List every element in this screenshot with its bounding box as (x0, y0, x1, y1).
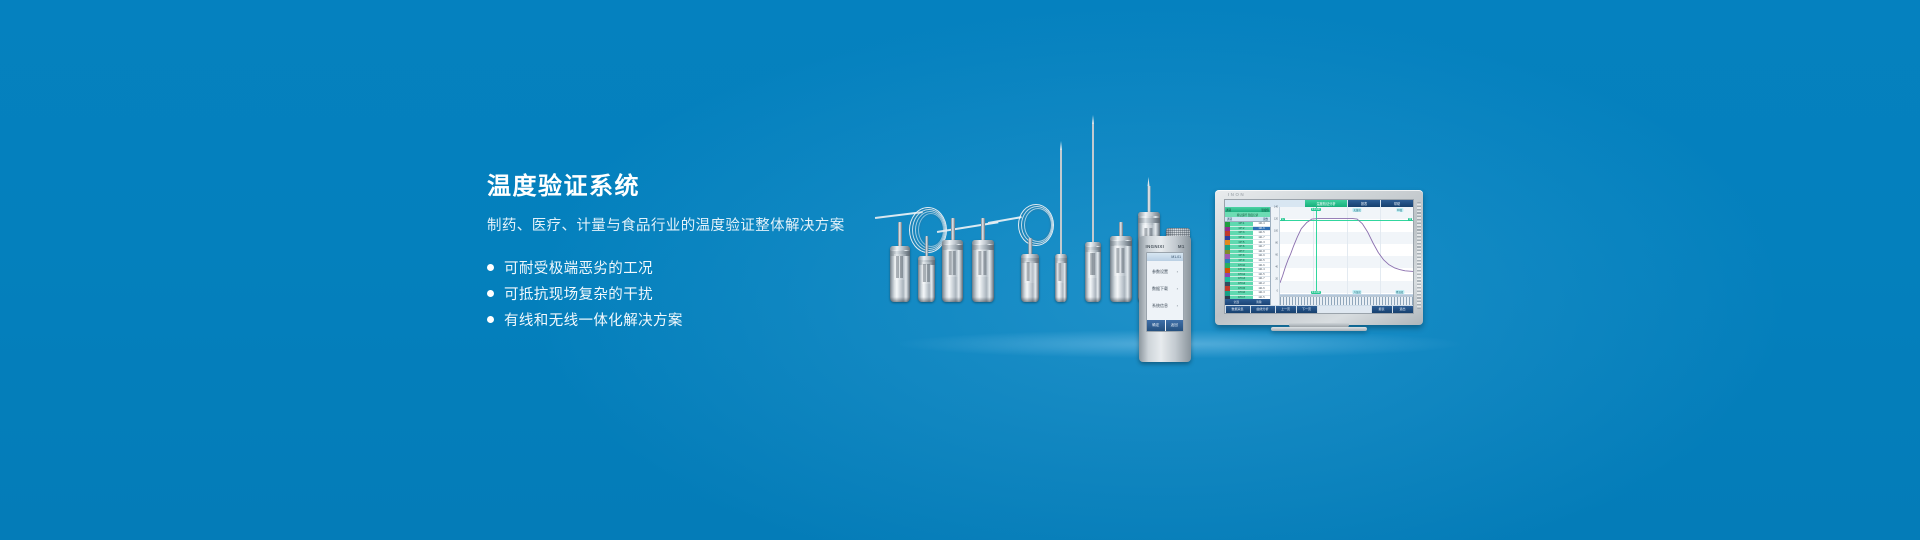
reader-menu-item[interactable]: 参数设置 › (1147, 265, 1183, 278)
needle-probe-tall-1 (1055, 254, 1067, 302)
bottom-button-collect[interactable]: 数据采集 (1226, 306, 1250, 313)
toolbar-help-button[interactable]: 帮助 (1381, 200, 1413, 207)
handheld-reader-device: INGNIXI M1 M1-01 参数设置 › 数据下载 › 系统信息 › 确定… (1139, 236, 1191, 362)
software-body: 通道 温度值 验证运行 温度记录 通道 读数 CH 1121.4CH 2121.… (1225, 207, 1413, 305)
data-logger-5 (1021, 254, 1039, 302)
data-logger-6 (1110, 236, 1132, 302)
reader-menu-label: 系统信息 (1152, 303, 1168, 309)
data-logger-1 (890, 246, 910, 302)
y-axis-tick: 80 (1275, 242, 1278, 245)
reader-screen-title: M1-01 (1171, 255, 1181, 259)
data-logger-2 (918, 256, 935, 302)
y-axis-tick: 120 (1274, 218, 1278, 221)
bottom-button-curve[interactable]: 曲线分析 (1251, 306, 1275, 313)
toolbar-analysis-button[interactable]: 温度验证分析 (1305, 200, 1347, 207)
reader-menu-label: 数据下载 (1152, 286, 1168, 292)
monitor-brand-label: INON (1228, 192, 1245, 197)
chevron-right-icon: › (1177, 286, 1178, 291)
data-logger-3 (942, 240, 963, 302)
bullet-dot-icon (487, 264, 494, 271)
bullet-dot-icon (487, 316, 494, 323)
y-axis-tick: 100 (1274, 230, 1278, 233)
column-header-channel: 通道 (1227, 217, 1232, 221)
y-axis-tick: 140 (1274, 206, 1278, 209)
coiled-probe-right (988, 200, 1098, 256)
toolbar-report-button[interactable]: 报表 (1348, 200, 1380, 207)
channel-table-header-left: 通道 (1226, 208, 1231, 212)
monitor-display: INON 温度验证分析 报表 帮助 通道 温度值 验证运行 (1215, 190, 1423, 325)
software-top-toolbar: 温度验证分析 报表 帮助 (1225, 200, 1413, 207)
list-item: 可耐受极端恶劣的工况 (487, 254, 917, 280)
reader-brand-label: INGNIXI (1146, 243, 1165, 248)
y-axis-tick: 60 (1275, 254, 1278, 257)
monitor-base (1271, 327, 1367, 331)
bottom-button-next[interactable]: 下一页 (1297, 306, 1317, 313)
reader-menu-label: 参数设置 (1152, 269, 1168, 275)
bottom-button-exit[interactable]: 退出 (1393, 306, 1413, 313)
channel-table[interactable]: 通道 温度值 验证运行 温度记录 通道 读数 CH 1121.4CH 2121.… (1225, 207, 1271, 305)
bullet-label: 有线和无线一体化解决方案 (504, 309, 683, 330)
toolbar-spacer (1318, 306, 1371, 313)
chart-panel[interactable]: 020406080100120140 0:44:00 (1271, 207, 1413, 305)
hero-text-block: 温度验证系统 制药、医疗、计量与食品行业的温度验证整体解决方案 可耐受极端恶劣的… (487, 172, 917, 332)
bullet-label: 可耐受极端恶劣的工况 (504, 257, 653, 278)
chevron-right-icon: › (1177, 269, 1178, 274)
reader-model-label: M1 (1177, 243, 1184, 248)
y-axis-tick: 40 (1275, 266, 1278, 269)
bullet-label: 可抵抗现场复杂的干扰 (504, 283, 653, 304)
feature-bullet-list: 可耐受极端恶劣的工况 可抵抗现场复杂的干扰 有线和无线一体化解决方案 (487, 254, 917, 332)
monitor-bezel: INON 温度验证分析 报表 帮助 通道 温度值 验证运行 (1215, 190, 1423, 325)
reader-back-button[interactable]: 返回 (1166, 320, 1184, 331)
data-logger-4 (972, 240, 994, 302)
chart-plot-area[interactable]: 0:44:00 0:44:00 A B 灭菌段 F0值 升温段 降温段 (1280, 207, 1413, 305)
bottom-button-report[interactable]: 报表 (1372, 306, 1392, 313)
temperature-curve (1280, 207, 1413, 291)
bottom-button-prev[interactable]: 上一页 (1276, 306, 1296, 313)
reader-brand-row: INGNIXI M1 (1142, 239, 1188, 252)
page-subtitle: 制药、医疗、计量与食品行业的温度验证整体解决方案 (487, 216, 917, 236)
validation-software-screen[interactable]: 温度验证分析 报表 帮助 通道 温度值 验证运行 温度记录 (1224, 199, 1414, 314)
list-item: 有线和无线一体化解决方案 (487, 306, 917, 332)
bullet-dot-icon (487, 290, 494, 297)
reader-screen[interactable]: M1-01 参数设置 › 数据下载 › 系统信息 › 确定 返回 (1146, 252, 1184, 332)
reader-button-bar: 确定 返回 (1147, 320, 1183, 331)
list-item: 可抵抗现场复杂的干扰 (487, 280, 917, 306)
column-header-reading: 读数 (1263, 217, 1268, 221)
hero-banner: 温度验证系统 制药、医疗、计量与食品行业的温度验证整体解决方案 可耐受极端恶劣的… (0, 0, 1920, 540)
chevron-right-icon: › (1177, 303, 1178, 308)
reader-menu-item[interactable]: 数据下载 › (1147, 282, 1183, 295)
software-bottom-toolbar: 数据采集 曲线分析 上一页 下一页 报表 退出 (1225, 305, 1413, 313)
page-title: 温度验证系统 (487, 172, 917, 202)
reader-screen-titlebar: M1-01 (1147, 253, 1183, 261)
channel-table-subheader-label: 验证运行 温度记录 (1237, 213, 1258, 217)
chart-x-axis-ticks (1280, 296, 1413, 305)
y-axis-tick: 20 (1275, 278, 1278, 281)
channel-table-header-right: 温度值 (1261, 208, 1269, 212)
reader-menu-item[interactable]: 系统信息 › (1147, 299, 1183, 312)
channel-table-rows: CH 1121.4CH 2121.6CH 3121.5CH 4121.7CH 5… (1225, 222, 1270, 299)
y-axis-tick: 0 (1277, 290, 1278, 293)
needle-probe-tall-2 (1085, 242, 1101, 302)
series-line (1280, 218, 1413, 282)
reader-confirm-button[interactable]: 确定 (1147, 320, 1165, 331)
chart-y-axis: 020406080100120140 (1271, 207, 1280, 305)
